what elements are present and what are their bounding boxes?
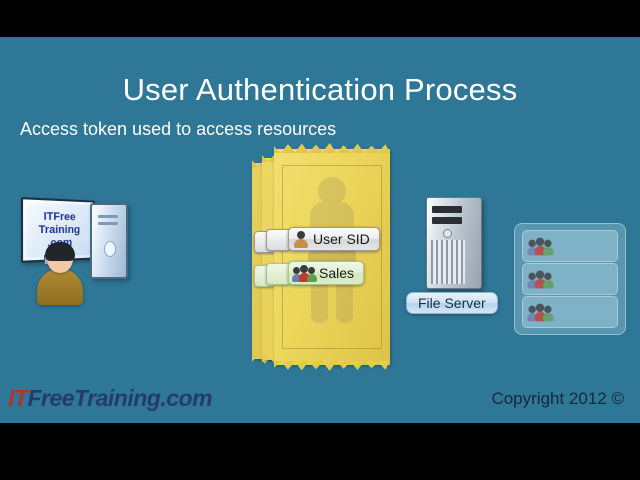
letterbox-bar-top <box>0 0 640 37</box>
resource-panel <box>514 223 626 335</box>
user-workstation: ITFree Training .com <box>14 195 144 305</box>
server-icon <box>426 197 482 289</box>
user-avatar-icon <box>34 245 86 305</box>
avatar-hair <box>45 242 75 261</box>
slide-canvas: User Authentication Process Access token… <box>0 0 640 480</box>
screen-line-2: Training <box>39 223 81 236</box>
group-icon <box>528 303 551 321</box>
person-icon <box>293 231 309 248</box>
token-badge-user-sid-label: User SID <box>313 231 370 247</box>
group-icon <box>528 237 551 255</box>
page-subtitle: Access token used to access resources <box>20 119 336 140</box>
resource-row <box>522 230 618 262</box>
site-logo: ITFreeTraining.com <box>8 385 212 412</box>
site-logo-freetraining: FreeTraining <box>27 385 160 411</box>
token-badge-stub-sales <box>266 263 289 285</box>
tower-drive-slot <box>98 222 118 225</box>
copyright-text: Copyright 2012 © <box>491 389 624 409</box>
token-zigzag-bottom <box>274 361 390 372</box>
token-badge-sales-label: Sales <box>319 265 354 281</box>
computer-tower-icon <box>90 203 128 279</box>
page-title: User Authentication Process <box>0 72 640 108</box>
power-button-icon <box>104 241 116 257</box>
avatar-body <box>37 269 83 305</box>
screen-line-1: ITFree <box>44 210 76 224</box>
file-server-label: File Server <box>406 292 498 314</box>
server-drive-bay <box>432 206 462 213</box>
token-badge-sales: Sales <box>288 261 364 285</box>
token-zigzag-top <box>274 142 390 153</box>
letterbox-bar-bottom <box>0 423 640 480</box>
server-power-led-icon <box>443 229 452 238</box>
slide-stage: User Authentication Process Access token… <box>0 37 640 423</box>
server-drive-bay <box>432 217 462 224</box>
file-server-graphic: File Server <box>420 197 488 293</box>
site-logo-it: IT <box>8 385 27 411</box>
token-badge-stub-user-sid <box>266 229 289 251</box>
group-icon <box>293 265 315 282</box>
group-icon <box>528 270 551 288</box>
access-token-card-front <box>274 149 390 365</box>
token-badge-user-sid: User SID <box>288 227 380 251</box>
access-token-stack: User SID Sales <box>252 149 398 381</box>
tower-drive-slot <box>98 215 118 218</box>
site-logo-dotcom: .com <box>160 385 212 411</box>
token-figure-watermark <box>301 177 363 327</box>
resource-row <box>522 296 618 328</box>
resource-row <box>522 263 618 295</box>
figure-head <box>318 177 346 205</box>
server-vent-grille <box>431 240 465 284</box>
